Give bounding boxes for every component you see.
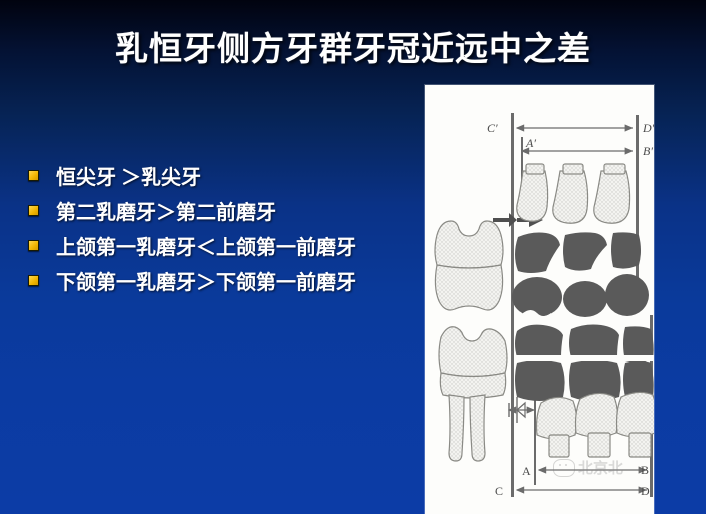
label-b-prime: B′ xyxy=(643,144,653,158)
label-d-prime: D′ xyxy=(642,121,654,135)
list-item: 恒尖牙 ＞乳尖牙 xyxy=(28,158,428,193)
tooth-left-upper-occlusal xyxy=(435,221,503,310)
tooth-left-lower-buccal xyxy=(439,327,507,461)
label-c: C xyxy=(495,484,503,498)
bullet-square-icon xyxy=(28,205,39,216)
list-item: 第二乳磨牙＞第二前磨牙 xyxy=(28,193,428,228)
list-item-label: 下颌第一乳磨牙＞下颌第一前磨牙 xyxy=(56,266,356,295)
label-d: D xyxy=(641,484,650,498)
list-item-label: 第二乳磨牙＞第二前磨牙 xyxy=(56,196,276,225)
bullet-list: 恒尖牙 ＞乳尖牙 第二乳磨牙＞第二前磨牙 上颌第一乳磨牙＜上颌第一前磨牙 下颌第… xyxy=(28,158,428,298)
tooth-row-dark-band-2 xyxy=(515,325,654,402)
tooth-row-upper-stippled xyxy=(517,164,630,223)
page-title: 乳恒牙侧方牙群牙冠近远中之差 xyxy=(0,22,706,70)
list-item: 上颌第一乳磨牙＜上颌第一前磨牙 xyxy=(28,228,428,263)
bullet-square-icon xyxy=(28,170,39,181)
tooth-row-lower-stippled xyxy=(537,392,655,457)
dental-diagram-panel: C′ A′ D′ B′ A C B D 北京北 xyxy=(425,85,654,514)
tooth-row-dark-band-1 xyxy=(512,232,649,324)
label-c-prime: C′ xyxy=(487,121,498,135)
label-a-prime: A′ xyxy=(525,136,536,150)
label-a: A xyxy=(522,464,531,478)
list-item-label: 恒尖牙 ＞乳尖牙 xyxy=(56,161,201,190)
label-b: B xyxy=(641,463,649,477)
bullet-square-icon xyxy=(28,240,39,251)
slide: 乳恒牙侧方牙群牙冠近远中之差 恒尖牙 ＞乳尖牙 第二乳磨牙＞第二前磨牙 上颌第一… xyxy=(0,0,706,514)
list-item: 下颌第一乳磨牙＞下颌第一前磨牙 xyxy=(28,263,428,298)
bottom-dimension-arrows xyxy=(517,470,647,490)
bullet-square-icon xyxy=(28,275,39,286)
dental-diagram-svg: C′ A′ D′ B′ A C B D xyxy=(425,85,654,514)
list-item-label: 上颌第一乳磨牙＜上颌第一前磨牙 xyxy=(56,231,356,260)
